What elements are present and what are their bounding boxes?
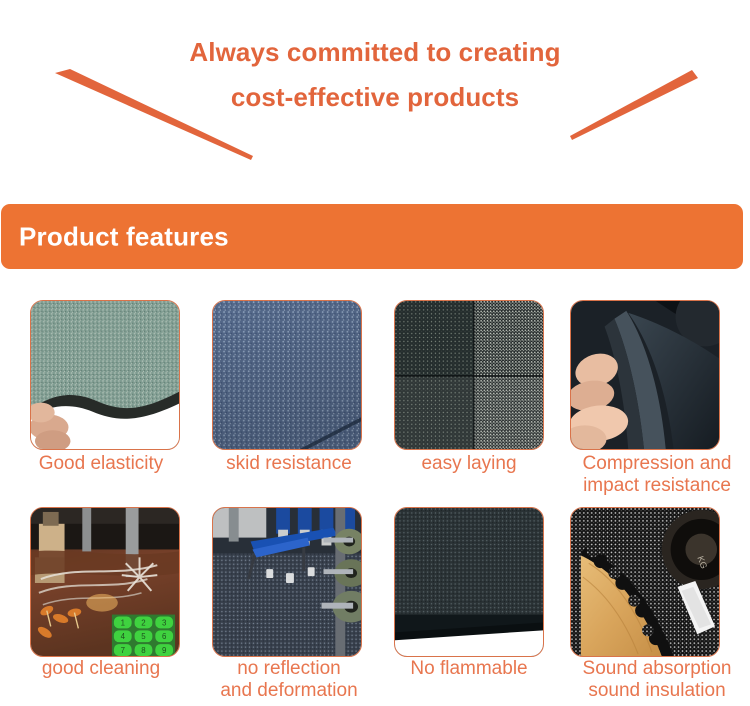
feature-thumbnail[interactable]: KG	[570, 507, 720, 657]
feature-caption: easy laying	[378, 453, 560, 475]
feature-row: Good elasticity	[0, 290, 750, 498]
feature-caption: Sound absorption sound insulation	[564, 658, 750, 701]
feature-thumbnail[interactable]	[212, 507, 362, 657]
feature-caption: Compression and impact resistance	[564, 453, 750, 496]
feature-row: 123 456 789 good cleaning	[0, 497, 750, 705]
feature-cell[interactable]: Good elasticity	[14, 290, 196, 498]
feature-cell[interactable]: KG Sound absorption sound insulation	[556, 497, 738, 705]
hero-section: Always committed to creating cost-effect…	[0, 0, 750, 190]
black-rubber-sheet-edge-icon	[395, 508, 543, 656]
svg-text:1: 1	[121, 618, 125, 627]
svg-text:5: 5	[141, 632, 146, 641]
headline-line-1: Always committed to creating	[0, 30, 750, 75]
feature-cell[interactable]: skid resistance	[196, 290, 378, 498]
blue-speckled-rubber-tile-icon	[213, 301, 361, 449]
page-title: Always committed to creating cost-effect…	[0, 30, 750, 120]
svg-text:9: 9	[162, 646, 166, 655]
feature-caption: good cleaning	[10, 658, 192, 680]
svg-text:6: 6	[162, 632, 167, 641]
feature-caption: Good elasticity	[10, 453, 192, 475]
section-banner-title: Product features	[19, 221, 229, 252]
hand-compressing-rubber-mat-icon	[571, 301, 719, 449]
feature-thumbnail[interactable]	[394, 507, 544, 657]
feature-cell[interactable]: 123 456 789 good cleaning	[14, 497, 196, 705]
feature-cell[interactable]: No flammable	[378, 497, 560, 705]
feature-thumbnail[interactable]	[394, 300, 544, 450]
green-rubber-roll-peeled-by-hand-icon	[31, 301, 179, 449]
svg-text:8: 8	[141, 646, 146, 655]
feature-cell[interactable]: Compression and impact resistance	[556, 290, 738, 498]
feature-cell[interactable]: no reflection and deformation	[196, 497, 378, 705]
svg-text:7: 7	[121, 646, 125, 655]
gym-rubber-floor-with-weights-icon	[213, 508, 361, 656]
interlocking-mat-over-wood-floor-icon: KG	[571, 508, 719, 656]
feature-thumbnail[interactable]: 123 456 789	[30, 507, 180, 657]
feature-grid: Good elasticity	[0, 290, 750, 706]
section-banner: Product features	[1, 204, 743, 269]
svg-text:3: 3	[162, 618, 167, 627]
feature-cell[interactable]: easy laying	[378, 290, 560, 498]
feature-thumbnail[interactable]	[212, 300, 362, 450]
feature-thumbnail[interactable]	[30, 300, 180, 450]
interlocking-dark-rubber-tiles-icon	[395, 301, 543, 449]
gym-floor-being-washed-icon: 123 456 789	[31, 508, 179, 656]
headline-line-2: cost-effective products	[0, 75, 750, 120]
svg-text:2: 2	[141, 618, 145, 627]
svg-text:4: 4	[121, 632, 126, 641]
feature-caption: no reflection and deformation	[198, 658, 380, 701]
feature-caption: No flammable	[378, 658, 560, 680]
feature-thumbnail[interactable]	[570, 300, 720, 450]
feature-caption: skid resistance	[198, 453, 380, 475]
